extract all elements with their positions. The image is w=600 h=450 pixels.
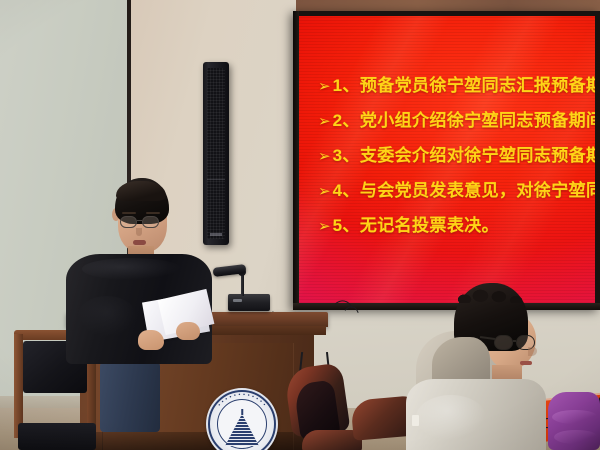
attendee-hoodie-tag — [412, 415, 419, 426]
arrow-bullet-icon: ➢ — [318, 219, 331, 234]
agenda-item-text: 1、预备党员徐宁堃同志汇报预备期 — [333, 71, 595, 96]
presenter-hair-fringe — [116, 181, 166, 201]
presenter-nose — [136, 228, 142, 236]
agenda-item: ➢ 2、党小组介绍徐宁堃同志预备期间 — [318, 106, 595, 141]
presenter-mouth — [133, 240, 146, 245]
institutional-seal: • • • • • • • • • • • • • • • • • • • • … — [206, 388, 278, 450]
presenter-eyeglasses-icon — [120, 216, 166, 228]
microphone-indicator-icon — [233, 299, 242, 302]
attendee-shoulder-highlight — [416, 395, 486, 440]
seated-attendee — [406, 283, 600, 450]
arrow-bullet-icon: ➢ — [318, 79, 331, 94]
agenda-item-text: 3、支委会介绍对徐宁堃同志预备期 — [333, 141, 595, 166]
agenda-list: ➢ 1、预备党员徐宁堃同志汇报预备期 ➢ 2、党小组介绍徐宁堃同志预备期间 ➢ … — [318, 71, 595, 246]
agenda-item: ➢ 1、预备党员徐宁堃同志汇报预备期 — [318, 71, 595, 106]
attendee-nose — [528, 347, 537, 356]
agenda-item-text: 4、与会党员发表意见，对徐宁堃同 — [333, 176, 595, 201]
presenter-sleeve-fold — [78, 296, 136, 336]
agenda-item: ➢ 3、支委会介绍对徐宁堃同志预备期 — [318, 141, 595, 176]
arrow-bullet-icon: ➢ — [318, 149, 331, 164]
agenda-item: ➢ 4、与会党员发表意见，对徐宁堃同 — [318, 176, 595, 211]
leather-chair — [288, 366, 362, 450]
agenda-item-text: 5、无记名投票表决。 — [333, 211, 499, 236]
eyeglass-lens — [494, 335, 513, 350]
agenda-item-text: 2、党小组介绍徐宁堃同志预备期间 — [333, 106, 595, 131]
speaker-logo — [210, 233, 222, 236]
attendee-hair-texture — [458, 285, 524, 303]
arrow-bullet-icon: ➢ — [318, 114, 331, 129]
led-display: ➢ 1、预备党员徐宁堃同志汇报预备期 ➢ 2、党小组介绍徐宁堃同志预备期间 ➢ … — [293, 11, 600, 310]
microphone-base — [228, 294, 270, 311]
meeting-room-photo: ➢ 1、预备党员徐宁堃同志汇报预备期 ➢ 2、党小组介绍徐宁堃同志预备期间 ➢ … — [0, 0, 600, 450]
screen-content: ➢ 1、预备党员徐宁堃同志汇报预备期 ➢ 2、党小组介绍徐宁堃同志预备期间 ➢ … — [299, 16, 595, 303]
arrow-bullet-icon: ➢ — [318, 184, 331, 199]
presenter-shoulder-highlight — [82, 258, 182, 280]
eyeglass-lens — [142, 216, 159, 228]
presenter-trousers — [100, 362, 160, 432]
presenter-hand-right — [176, 322, 200, 340]
eyeglass-lens — [120, 216, 137, 228]
agenda-item: ➢ 5、无记名投票表决。 — [318, 211, 595, 246]
presenter-at-podium — [60, 178, 210, 450]
presenter-hand-left — [138, 330, 164, 350]
